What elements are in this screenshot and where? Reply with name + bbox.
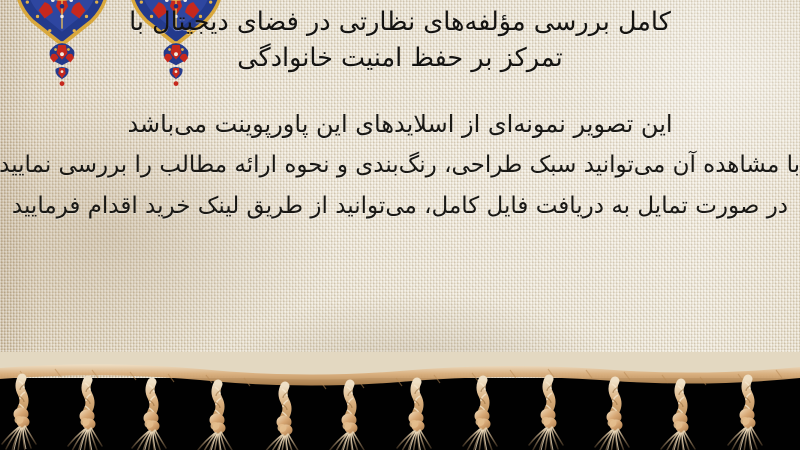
slide-body-line-3: در صورت تمایل به دریافت فایل کامل، می‌تو… [0, 186, 800, 227]
slide-title: کامل بررسی مؤلفه‌های نظارتی در فضای دیجی… [0, 4, 800, 76]
slide-title-line-2: تمرکز بر حفظ امنیت خانوادگی [0, 40, 800, 76]
slide-body-line-2: با مشاهده آن می‌توانید سبک طراحی، رنگ‌بن… [0, 145, 800, 186]
tassel-fringe-svg [0, 352, 800, 450]
tassel-row [2, 378, 762, 450]
tassel [397, 382, 431, 450]
tassel [198, 384, 232, 450]
slide-body: این تصویر نمونه‌ای از اسلایدهای این پاور… [0, 104, 800, 227]
slide-canvas: کامل بررسی مؤلفه‌های نظارتی در فضای دیجی… [0, 0, 800, 450]
tassel-fringe-group [0, 352, 800, 450]
tassel [2, 378, 36, 450]
tassel [661, 383, 695, 450]
tassel [728, 379, 762, 450]
tassel [529, 379, 563, 450]
tassel [595, 381, 629, 450]
slide-body-line-1: این تصویر نمونه‌ای از اسلایدهای این پاور… [0, 104, 800, 145]
slide-title-line-1: کامل بررسی مؤلفه‌های نظارتی در فضای دیجی… [129, 7, 671, 37]
tassel [463, 380, 497, 450]
tassel [265, 386, 299, 450]
tassel [132, 382, 166, 450]
tassel [68, 380, 102, 450]
tassel [330, 384, 364, 450]
